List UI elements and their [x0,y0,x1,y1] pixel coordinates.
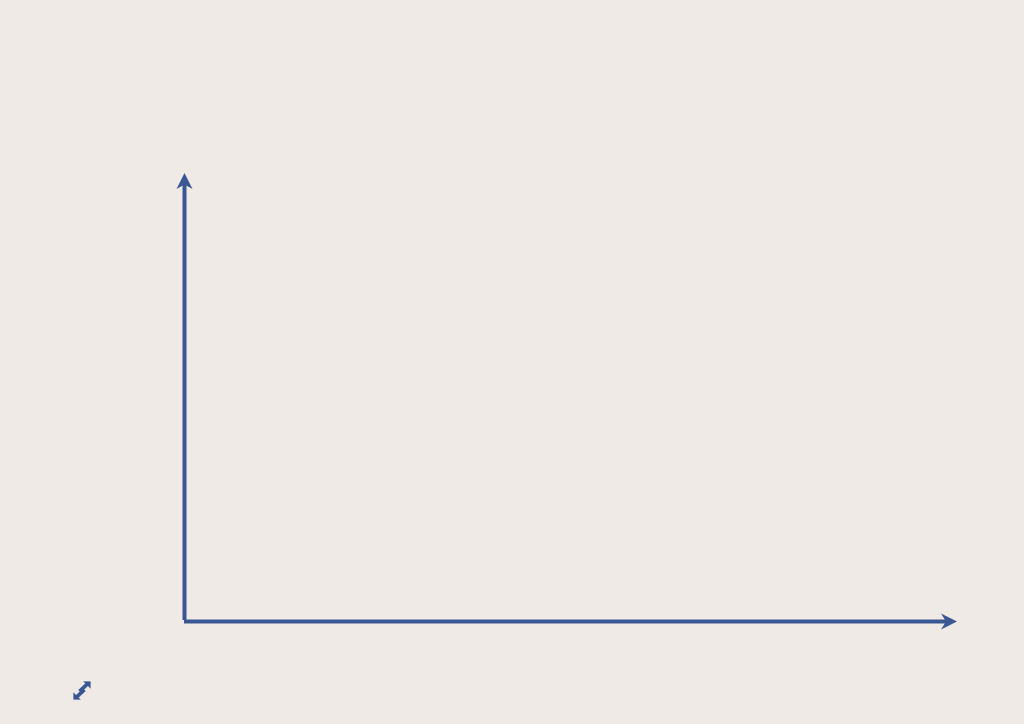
area-chart-plot [0,0,1024,724]
x-axis [184,614,957,630]
logo-wordmark [101,682,104,699]
chart-canvas [0,0,1024,724]
diagonal-double-arrow-icon [72,680,92,701]
y-axis [177,173,193,620]
enportal-connect-logo [72,680,104,701]
